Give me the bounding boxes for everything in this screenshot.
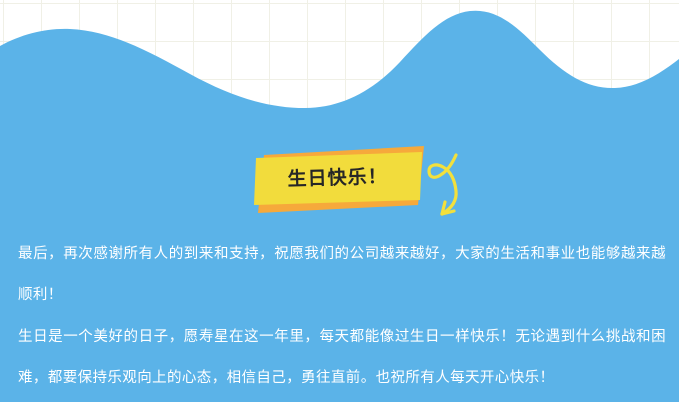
message-paragraph: 生日是一个美好的日子，愿寿星在这一年里，每天都能像过生日一样快乐！无论遇到什么挑…: [18, 317, 666, 399]
birthday-greeting-card: 生日快乐！ 最后，再次感谢所有人的到来和支持，祝愿我们的公司越来越好，大家的生活…: [0, 0, 679, 402]
message-body: 最后，再次感谢所有人的到来和支持，祝愿我们的公司越来越好，大家的生活和事业也能够…: [18, 234, 666, 399]
birthday-banner: 生日快乐！: [250, 143, 435, 215]
wave-header: [0, 0, 679, 130]
message-paragraph: 最后，再次感谢所有人的到来和支持，祝愿我们的公司越来越好，大家的生活和事业也能够…: [18, 234, 666, 316]
curly-loop-arrow-icon: [420, 150, 484, 222]
banner-front-shape-icon: [250, 143, 435, 215]
wave-shape-icon: [0, 0, 679, 130]
